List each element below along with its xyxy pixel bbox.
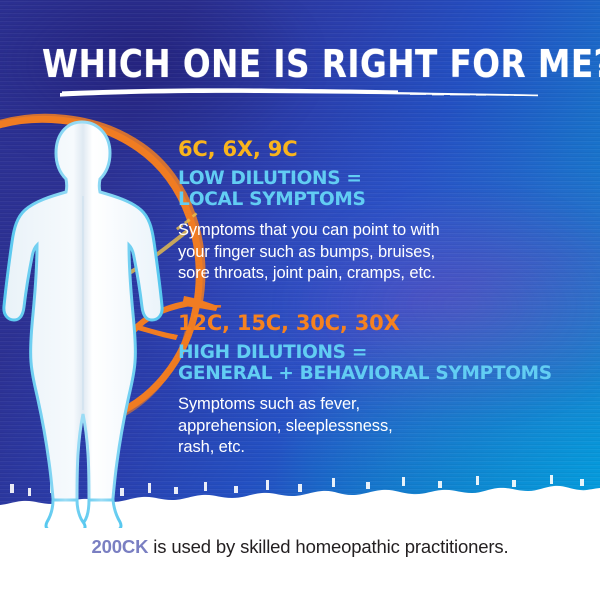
description-high-line3: rash, etc. <box>178 437 578 459</box>
subtitle-high-line2: GENERAL + BEHAVIORAL SYMPTOMS <box>178 363 578 385</box>
footer-caption-code: 200CK <box>91 536 148 557</box>
description-high: Symptoms such as fever, apprehension, sl… <box>178 394 578 459</box>
dilution-block-low: 6C, 6X, 9C LOW DILUTIONS = LOCAL SYMPTOM… <box>178 138 578 285</box>
subtitle-low-line1: LOW DILUTIONS = <box>178 168 578 190</box>
description-low-line3: sore throats, joint pain, cramps, etc. <box>178 263 578 285</box>
footer-caption: 200CK is used by skilled homeopathic pra… <box>0 536 600 558</box>
dilution-block-high: 12C, 15C, 30C, 30X HIGH DILUTIONS = GENE… <box>178 312 578 459</box>
footer-caption-text: is used by skilled homeopathic practitio… <box>148 536 508 557</box>
description-low: Symptoms that you can point to with your… <box>178 220 578 285</box>
dose-label-high: 12C, 15C, 30C, 30X <box>178 312 578 336</box>
page-title: WHICH ONE IS RIGHT FOR ME? <box>42 42 558 86</box>
content-column: 6C, 6X, 9C LOW DILUTIONS = LOCAL SYMPTOM… <box>178 138 578 459</box>
subtitle-low: LOW DILUTIONS = LOCAL SYMPTOMS <box>178 168 578 211</box>
dose-label-low: 6C, 6X, 9C <box>178 138 578 162</box>
human-body-silhouette-icon <box>0 118 186 528</box>
subtitle-low-line2: LOCAL SYMPTOMS <box>178 189 578 211</box>
description-high-line2: apprehension, sleeplessness, <box>178 416 578 438</box>
infographic-poster: WHICH ONE IS RIGHT FOR ME? <box>0 0 600 600</box>
description-low-line2: your finger such as bumps, bruises, <box>178 242 578 264</box>
subtitle-high-line1: HIGH DILUTIONS = <box>178 342 578 364</box>
description-high-line1: Symptoms such as fever, <box>178 394 578 416</box>
subtitle-high: HIGH DILUTIONS = GENERAL + BEHAVIORAL SY… <box>178 342 578 385</box>
description-low-line1: Symptoms that you can point to with <box>178 220 578 242</box>
